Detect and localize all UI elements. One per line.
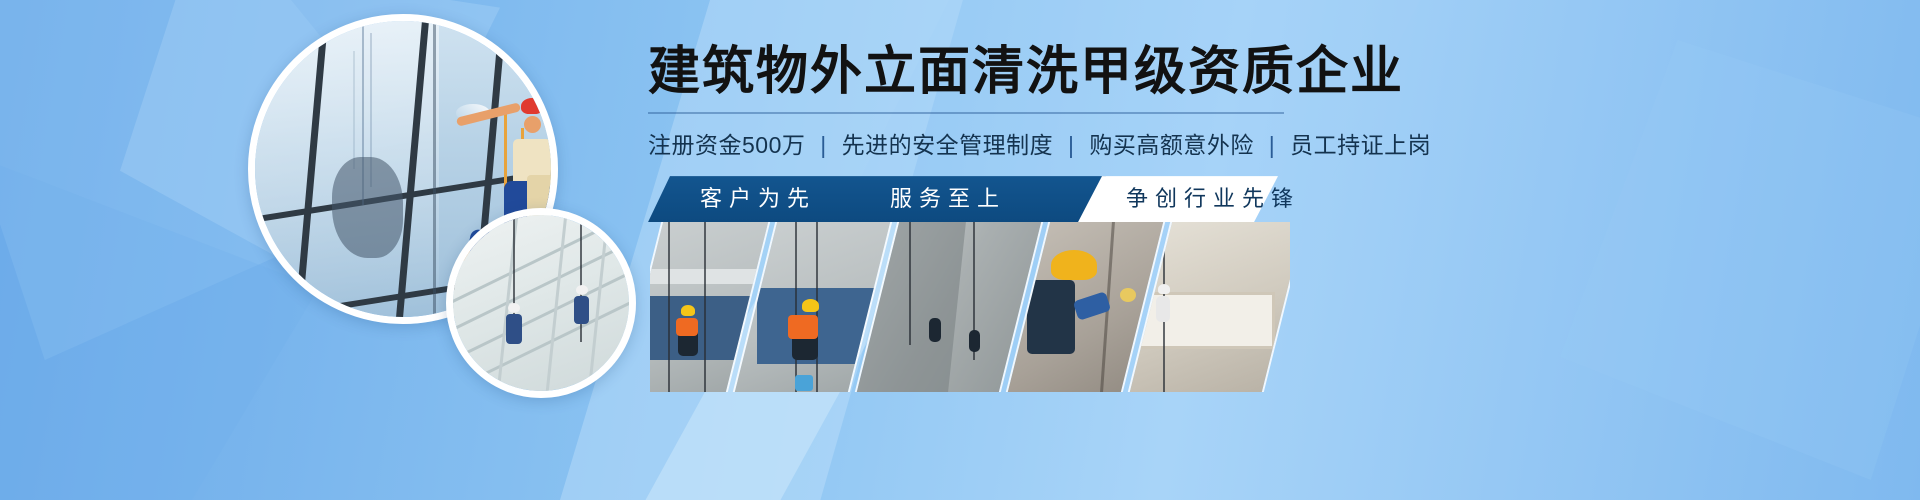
feature-item-2: 先进的安全管理制度 xyxy=(842,132,1054,158)
feature-separator: | xyxy=(820,132,826,158)
feature-list: 注册资金500万 | 先进的安全管理制度 | 购买高额意外险 | 员工持证上岗 xyxy=(648,126,1878,160)
slogan-text-2: 服务至上 xyxy=(890,176,1006,222)
slogan-text-1: 客户为先 xyxy=(700,176,816,222)
slogan-text-3: 争创行业先锋 xyxy=(1126,176,1300,222)
title-divider xyxy=(648,112,1284,114)
feature-item-3: 购买高额意外险 xyxy=(1089,132,1254,158)
page-title: 建筑物外立面清洗甲级资质企业 xyxy=(648,44,1878,100)
feature-item-4: 员工持证上岗 xyxy=(1290,132,1431,158)
photo-strip xyxy=(650,222,1290,392)
feature-separator: | xyxy=(1068,132,1074,158)
photo-circle-small xyxy=(446,208,636,398)
text-content: 建筑物外立面清洗甲级资质企业 注册资金500万 | 先进的安全管理制度 | 购买… xyxy=(648,44,1878,222)
feature-separator: | xyxy=(1269,132,1275,158)
white-facade-photo xyxy=(453,215,629,391)
banner-root: 建筑物外立面清洗甲级资质企业 注册资金500万 | 先进的安全管理制度 | 购买… xyxy=(0,0,1920,500)
feature-item-1: 注册资金500万 xyxy=(648,132,805,158)
slogan-ribbon: 客户为先 服务至上 争创行业先锋 xyxy=(648,176,1278,222)
